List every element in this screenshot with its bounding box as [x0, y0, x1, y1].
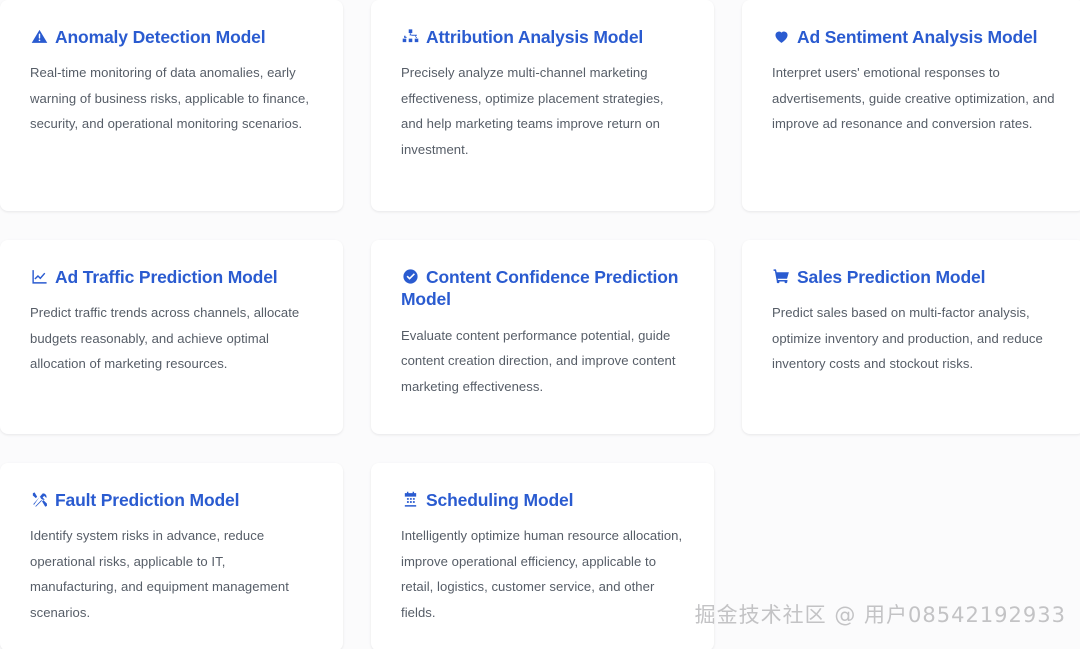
- card-description: Evaluate content performance potential, …: [401, 323, 684, 400]
- card-title-text: Content Confidence Prediction Model: [401, 267, 678, 309]
- card-title-text: Anomaly Detection Model: [55, 27, 265, 47]
- model-card-grid: Anomaly Detection Model Real-time monito…: [0, 0, 1080, 649]
- model-card-scheduling[interactable]: Scheduling Model Intelligently optimize …: [371, 463, 714, 649]
- card-title: Anomaly Detection Model: [30, 26, 313, 48]
- card-description: Precisely analyze multi-channel marketin…: [401, 60, 684, 162]
- card-title-text: Ad Sentiment Analysis Model: [797, 27, 1037, 47]
- warning-triangle-icon: [30, 28, 49, 45]
- card-title: Sales Prediction Model: [772, 266, 1055, 288]
- shopping-cart-icon: [772, 268, 791, 285]
- card-title-text: Fault Prediction Model: [55, 490, 239, 510]
- calendar-icon: [401, 491, 420, 508]
- card-title: Scheduling Model: [401, 489, 684, 511]
- card-title-text: Ad Traffic Prediction Model: [55, 267, 278, 287]
- card-title: Attribution Analysis Model: [401, 26, 684, 48]
- card-title: Ad Sentiment Analysis Model: [772, 26, 1055, 48]
- sitemap-icon: [401, 28, 420, 45]
- tools-icon: [30, 491, 49, 508]
- model-card-fault-prediction[interactable]: Fault Prediction Model Identify system r…: [0, 463, 343, 649]
- model-card-anomaly-detection[interactable]: Anomaly Detection Model Real-time monito…: [0, 0, 343, 211]
- card-description: Intelligently optimize human resource al…: [401, 523, 684, 625]
- model-card-content-confidence-prediction[interactable]: Content Confidence Prediction Model Eval…: [371, 240, 714, 434]
- model-card-ad-traffic-prediction[interactable]: Ad Traffic Prediction Model Predict traf…: [0, 240, 343, 434]
- heart-icon: [772, 28, 791, 45]
- card-title: Ad Traffic Prediction Model: [30, 266, 313, 288]
- card-description: Real-time monitoring of data anomalies, …: [30, 60, 313, 137]
- card-description: Predict sales based on multi-factor anal…: [772, 300, 1055, 377]
- card-description: Interpret users' emotional responses to …: [772, 60, 1055, 137]
- model-card-sales-prediction[interactable]: Sales Prediction Model Predict sales bas…: [742, 240, 1080, 434]
- check-circle-icon: [401, 268, 420, 285]
- card-title-text: Attribution Analysis Model: [426, 27, 643, 47]
- card-title-text: Scheduling Model: [426, 490, 573, 510]
- card-description: Predict traffic trends across channels, …: [30, 300, 313, 377]
- model-card-ad-sentiment-analysis[interactable]: Ad Sentiment Analysis Model Interpret us…: [742, 0, 1080, 211]
- card-description: Identify system risks in advance, reduce…: [30, 523, 313, 625]
- card-title: Content Confidence Prediction Model: [401, 266, 684, 311]
- card-title-text: Sales Prediction Model: [797, 267, 985, 287]
- chart-line-icon: [30, 268, 49, 285]
- card-title: Fault Prediction Model: [30, 489, 313, 511]
- model-card-attribution-analysis[interactable]: Attribution Analysis Model Precisely ana…: [371, 0, 714, 211]
